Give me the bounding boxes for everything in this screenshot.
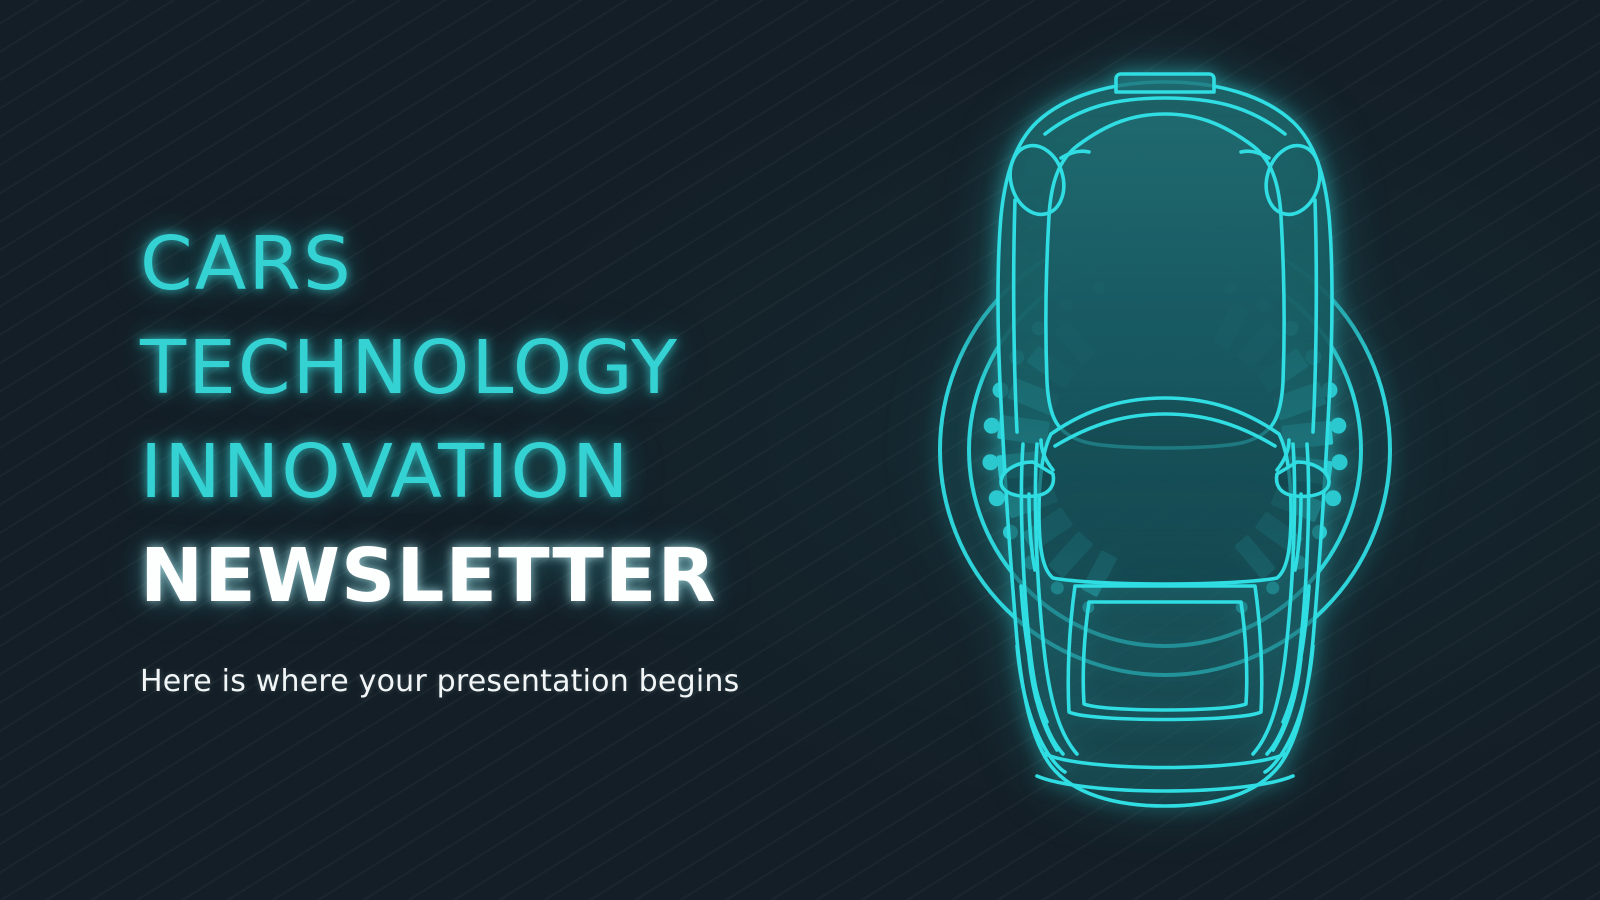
cabin-roof	[1039, 398, 1291, 584]
neon-car-svg	[905, 30, 1425, 830]
neon-car-illustration	[905, 30, 1425, 830]
title-line-2: TECHNOLOGY	[140, 316, 915, 420]
subtitle-text: Here is where your presentation begins	[140, 664, 900, 699]
title-line-4: NEWSLETTER	[140, 524, 915, 628]
car-wireframe	[998, 74, 1332, 806]
rear-spoiler	[1116, 74, 1214, 92]
title-slide: CARS TECHNOLOGY INNOVATION NEWSLETTER He…	[0, 0, 1600, 900]
title-line-3: INNOVATION	[140, 420, 915, 524]
title-text-block: CARS TECHNOLOGY INNOVATION NEWSLETTER He…	[140, 212, 900, 699]
title-line-1: CARS	[140, 212, 915, 316]
